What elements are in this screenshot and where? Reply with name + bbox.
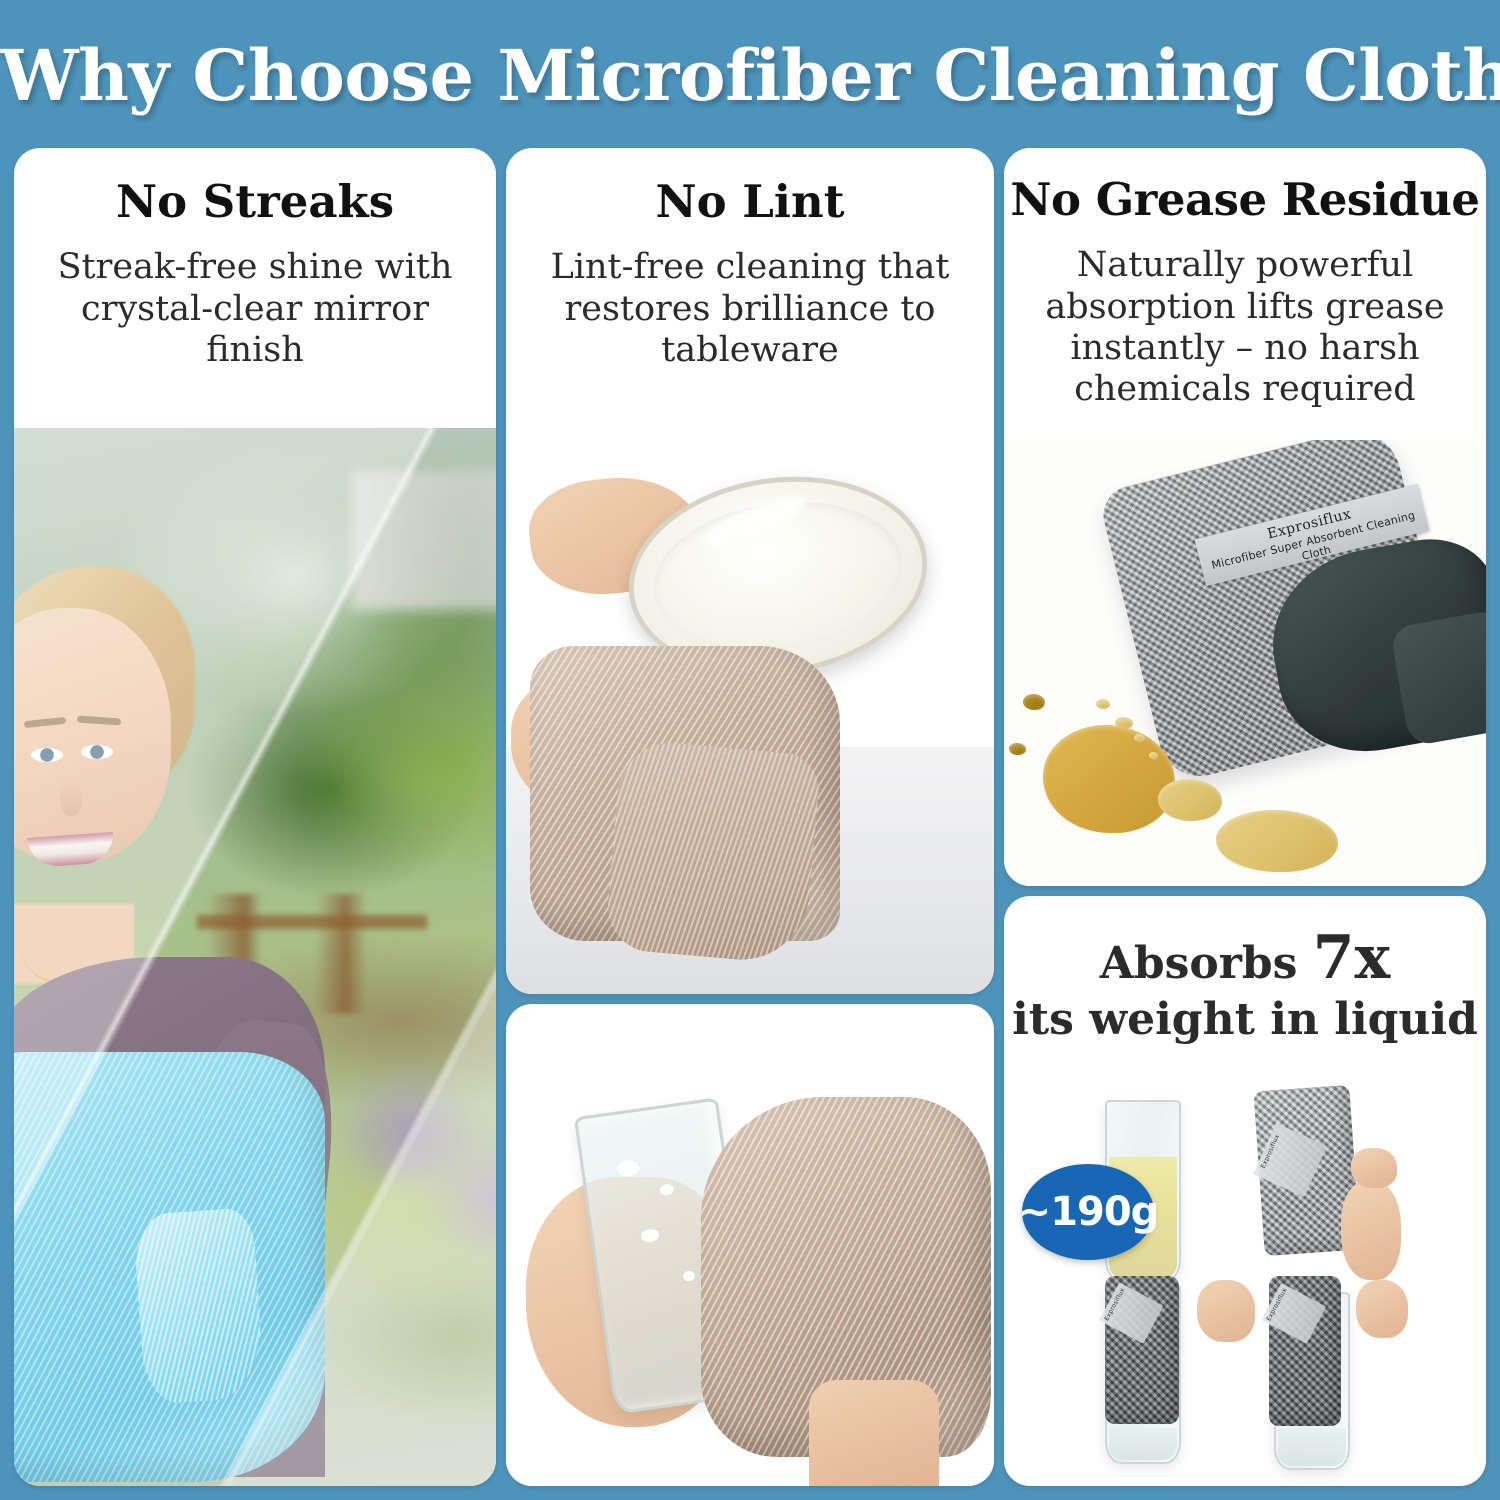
cloth-label: Exprosiflux <box>1262 1283 1327 1344</box>
grease-spill-large <box>1043 725 1175 833</box>
beige-cloth-fold <box>605 739 823 966</box>
grease-spill-wide <box>1216 810 1338 872</box>
wrist <box>809 1380 939 1486</box>
infographic-root: Why Choose Microfiber Cleaning Cloths No… <box>0 0 1500 1500</box>
panel-no-grease-residue: No Grease Residue Naturally powerful abs… <box>1004 148 1486 886</box>
cloth-label: Exprosiflux <box>1099 1282 1164 1344</box>
panel-absorbs: Absorbs 7x its weight in liquid Exprosif… <box>1004 896 1486 1486</box>
cloth-label-text: Exprosiflux <box>1256 1124 1285 1178</box>
panel-no-lint: No Lint Lint-free cleaning that restores… <box>506 148 994 994</box>
cloth-label-text: Exprosiflux <box>1265 1285 1291 1325</box>
grease-droplet <box>1149 752 1158 759</box>
water-droplet <box>617 1159 641 1178</box>
panel-body-no-grease: Naturally powerful absorption lifts grea… <box>1004 245 1486 410</box>
thumb <box>1351 1148 1397 1188</box>
weight-badge: ~190g <box>1022 1164 1154 1260</box>
grease-droplet <box>1023 694 1045 710</box>
grease-droplet <box>1096 699 1110 709</box>
image-absorption-demo: Exprosiflux Exprosiflux Exprosiflux <box>1004 1084 1486 1484</box>
image-plate-drying <box>506 433 994 994</box>
panel-body-no-streaks: Streak-free shine with crystal-clear mir… <box>14 247 496 371</box>
grease-droplet <box>1009 743 1026 755</box>
image-woman-with-cloth <box>14 428 496 1486</box>
panel-heading-no-lint: No Lint <box>506 178 994 225</box>
weight-badge-label: ~190g <box>1018 1189 1159 1235</box>
residual-liquid <box>1278 1428 1346 1466</box>
panel-glass-demo <box>506 1004 994 1486</box>
absorbs-headline-line1: Absorbs 7x <box>1004 924 1486 994</box>
panel-heading-no-streaks: No Streaks <box>14 178 496 225</box>
page-title: Why Choose Microfiber Cleaning Cloths <box>0 34 1500 117</box>
panel-no-streaks: No Streaks Streak-free shine with crysta… <box>14 148 496 1486</box>
fingers-left <box>1197 1280 1255 1342</box>
absorbs-headline: Absorbs 7x its weight in liquid <box>1004 924 1486 1045</box>
panel-body-no-lint: Lint-free cleaning that restores brillia… <box>506 247 994 371</box>
diagonal-split-line <box>14 428 496 1486</box>
soaked-microfiber-cloth: Exprosiflux <box>1105 1276 1179 1424</box>
image-grease-wipe: Exprosiflux Microfiber Super Absorbent C… <box>1004 440 1486 886</box>
image-glass-polishing <box>506 1044 994 1486</box>
residual-liquid <box>1109 1428 1177 1460</box>
grease-spill-medium <box>1158 779 1222 821</box>
fingers-right <box>1356 1280 1408 1338</box>
absorbs-multiplier: 7x <box>1313 923 1391 993</box>
panel-heading-no-grease: No Grease Residue <box>1004 176 1486 223</box>
water-droplet <box>659 1184 674 1197</box>
grease-droplet <box>1115 717 1133 729</box>
hand-holding-cloth <box>1341 1180 1401 1280</box>
lifted-microfiber-cloth: Exprosiflux <box>1269 1276 1341 1426</box>
absorbs-prefix: Absorbs <box>1100 938 1313 989</box>
cloth-label-text: Exprosiflux <box>1101 1284 1127 1325</box>
cloth-label: Exprosiflux <box>1253 1123 1327 1197</box>
water-droplet <box>640 1227 660 1242</box>
absorbs-headline-line2: its weight in liquid <box>1004 994 1486 1045</box>
water-droplet <box>683 1270 696 1282</box>
